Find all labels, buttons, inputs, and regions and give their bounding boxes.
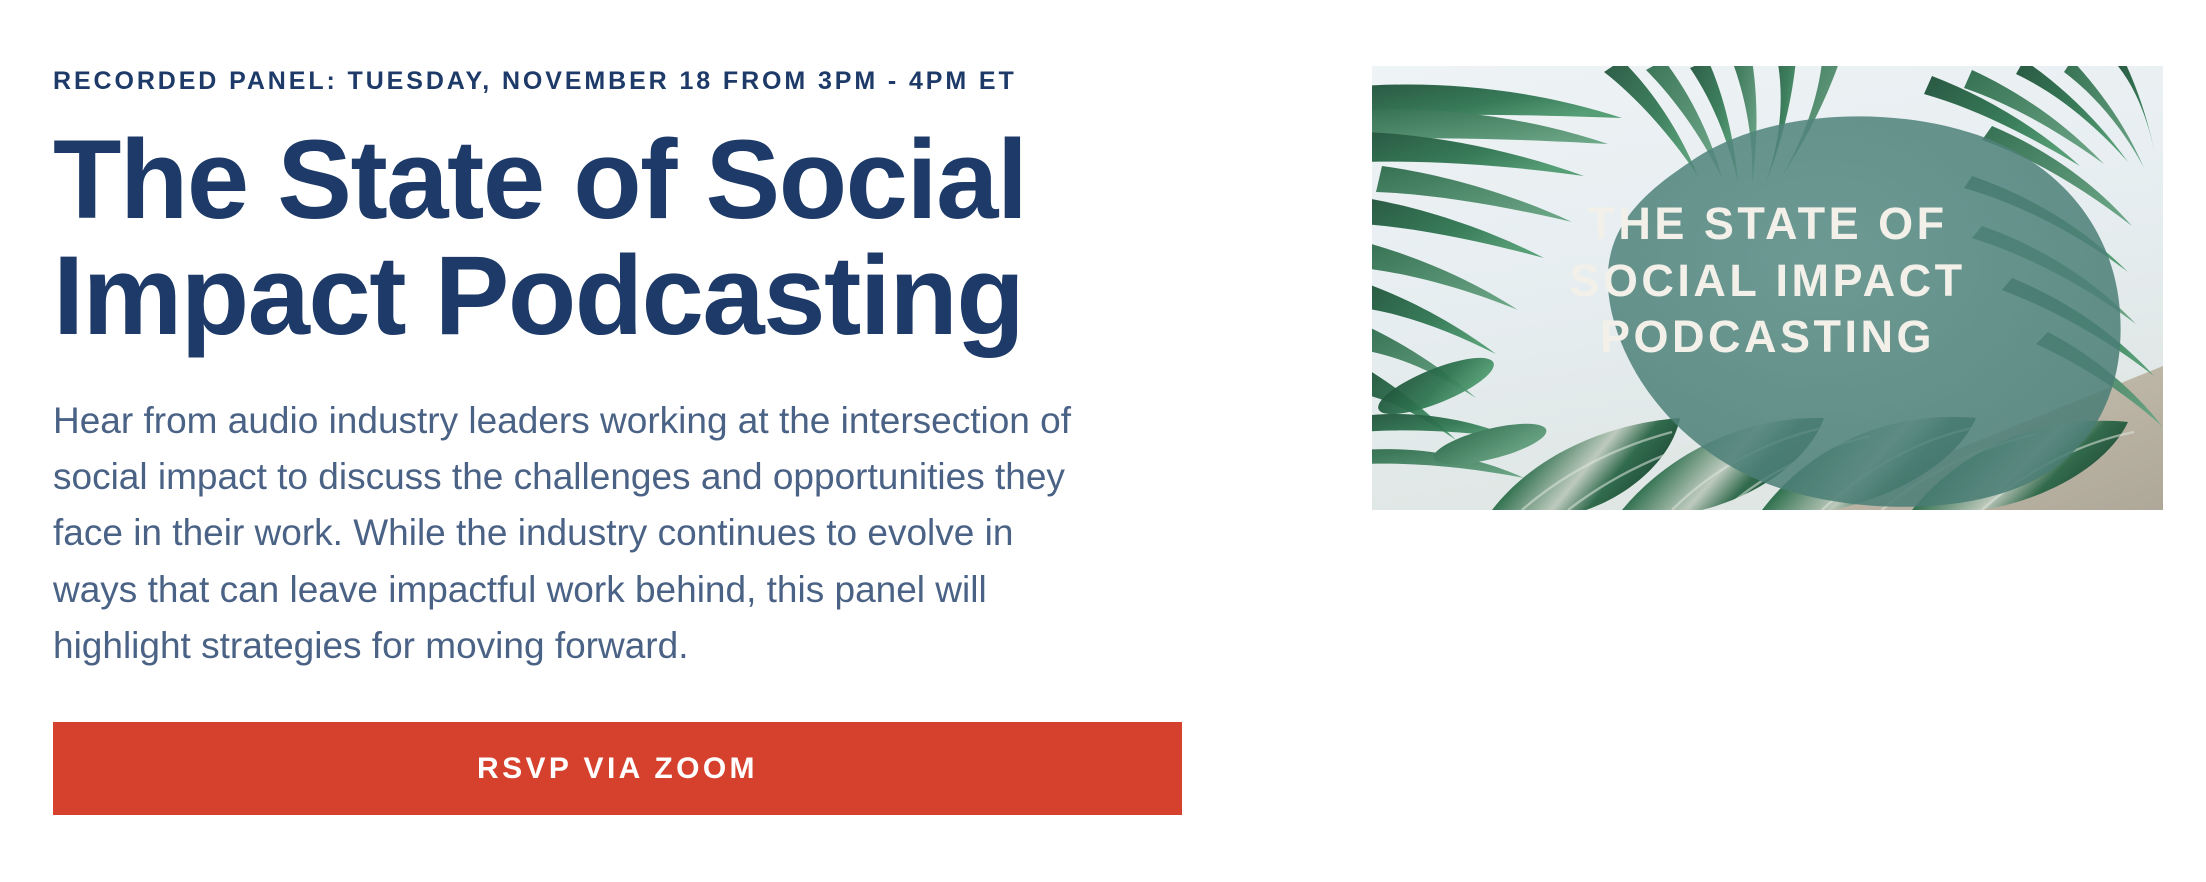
- promo-image: THE STATE OF SOCIAL IMPACT PODCASTING: [1372, 66, 2163, 510]
- event-promo-section: RECORDED PANEL: TUESDAY, NOVEMBER 18 FRO…: [0, 0, 2206, 882]
- event-content-column: RECORDED PANEL: TUESDAY, NOVEMBER 18 FRO…: [53, 66, 1183, 815]
- event-description: Hear from audio industry leaders working…: [53, 393, 1093, 674]
- rsvp-via-zoom-button[interactable]: RSVP VIA ZOOM: [53, 722, 1182, 815]
- rsvp-button-label: RSVP VIA ZOOM: [477, 752, 758, 786]
- event-schedule-eyebrow: RECORDED PANEL: TUESDAY, NOVEMBER 18 FRO…: [53, 66, 1183, 96]
- page-title: The State of Social Impact Podcasting: [53, 122, 1063, 355]
- palm-leaves-illustration: [1372, 66, 2163, 510]
